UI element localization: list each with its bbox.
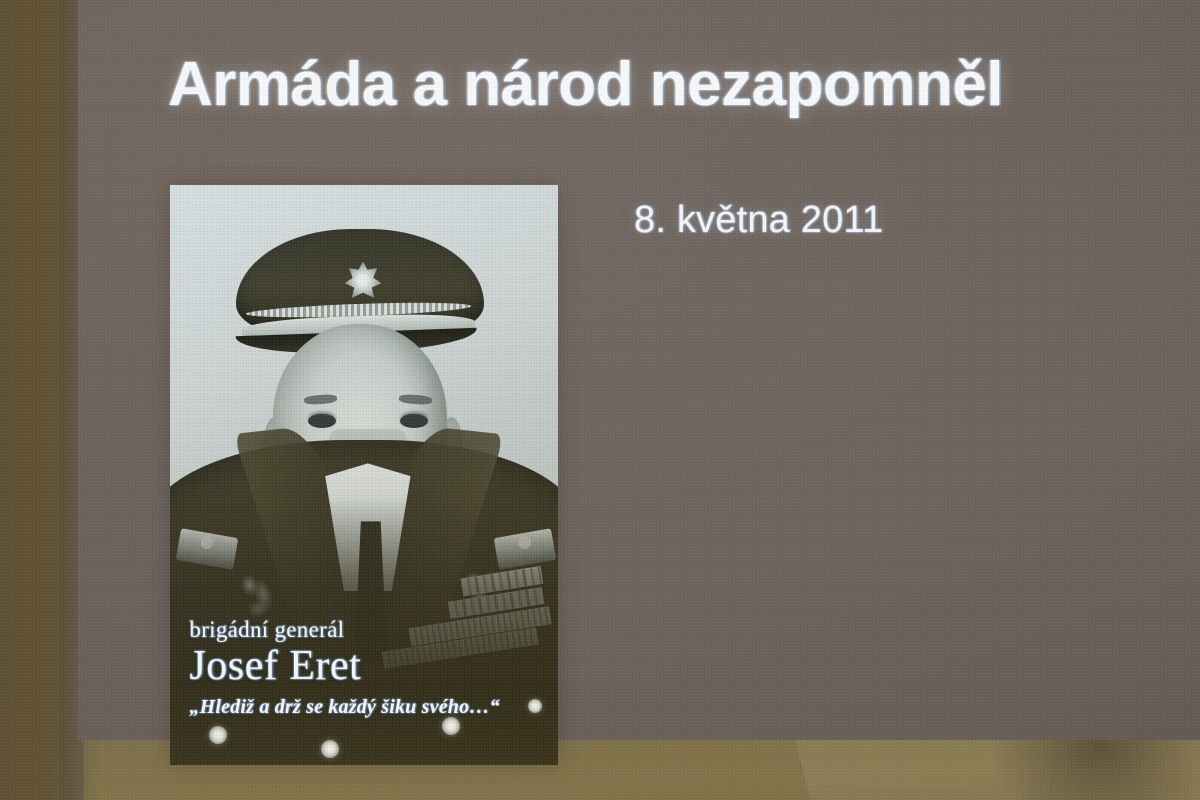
page-title: Armáda a národ nezapomněl: [168, 52, 1168, 118]
projected-slide: Armáda a národ nezapomněl 8. května 2011: [78, 0, 1200, 740]
poster-name-label: Josef Eret: [189, 643, 542, 689]
portrait-poster: brigádní generál Josef Eret „Hlediž a dr…: [170, 185, 558, 765]
slide-date: 8. května 2011: [634, 199, 883, 242]
screenshot-frame: Armáda a národ nezapomněl 8. května 2011: [0, 0, 1200, 800]
poster-caption: brigádní generál Josef Eret „Hlediž a dr…: [189, 617, 542, 719]
poster-rank-label: brigádní generál: [189, 617, 542, 643]
poster-quote-label: „Hlediž a drž se každý šiku svého…“: [189, 696, 542, 719]
